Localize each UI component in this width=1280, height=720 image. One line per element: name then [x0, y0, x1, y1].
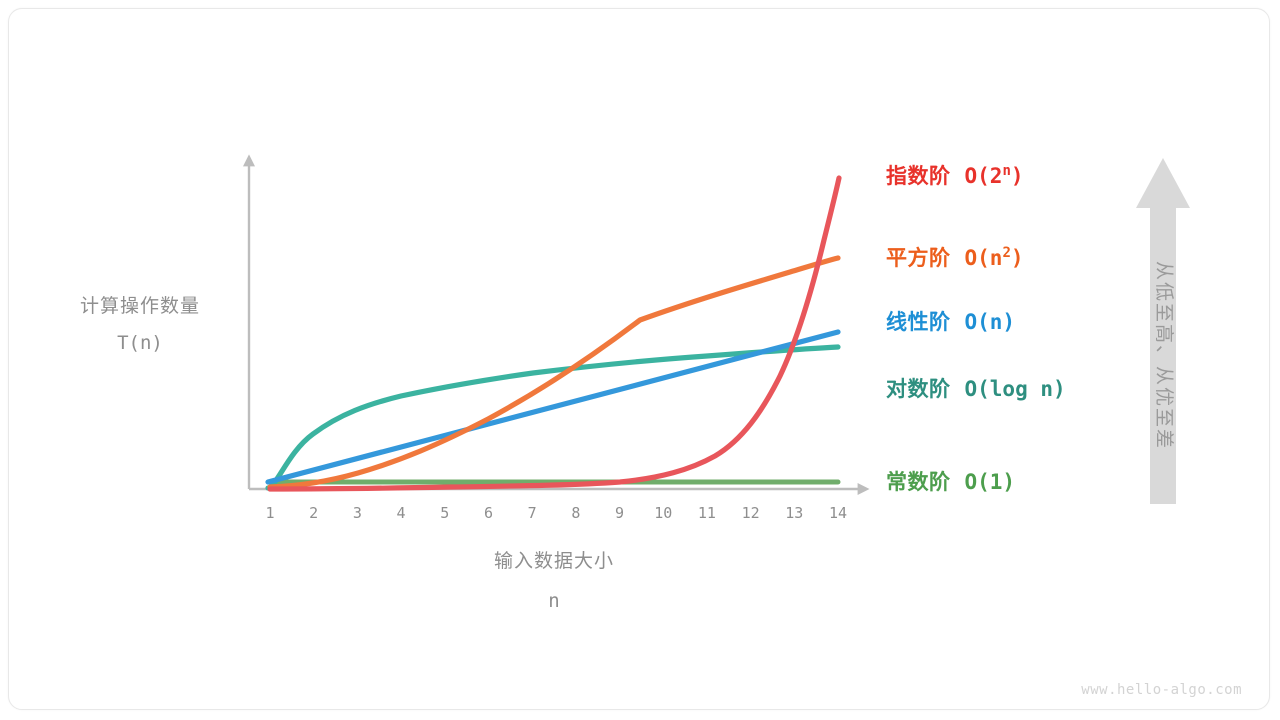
watermark: www.hello-algo.com	[1081, 682, 1242, 698]
legend-item-exponent: n	[1002, 163, 1010, 179]
legend-item-notation: O(log n)	[965, 377, 1066, 401]
x-tick-label: 13	[776, 504, 812, 522]
x-axis-title-line1: 输入数据大小	[454, 548, 654, 576]
x-tick-label: 1	[252, 504, 288, 522]
ranking-arrow-icon	[1136, 158, 1190, 504]
x-tick-label: 7	[514, 504, 550, 522]
x-tick-label: 10	[645, 504, 681, 522]
y-axis-title: 计算操作数量 T(n)	[40, 293, 240, 357]
x-tick-label: 14	[820, 504, 856, 522]
legend-item: 平方阶O(n2)	[886, 242, 1024, 272]
x-tick-label: 12	[733, 504, 769, 522]
x-tick-label: 11	[689, 504, 725, 522]
x-axis-title-line2: n	[454, 588, 654, 616]
legend-item-notation: O(2n)	[965, 164, 1024, 188]
y-axis-title-line1: 计算操作数量	[40, 293, 240, 321]
legend-item: 指数阶O(2n)	[886, 160, 1024, 190]
chart-page: 计算操作数量 T(n) 输入数据大小 n 1234567891011121314…	[0, 0, 1280, 720]
x-axis-title: 输入数据大小 n	[454, 548, 654, 615]
x-tick-label: 3	[339, 504, 375, 522]
legend-item-name: 指数阶	[886, 164, 951, 188]
legend-item-name: 常数阶	[886, 470, 951, 494]
legend-item-name: 线性阶	[886, 310, 951, 334]
legend-item-notation: O(n2)	[965, 246, 1024, 270]
x-tick-label: 9	[602, 504, 638, 522]
legend-item-exponent: 2	[1002, 245, 1010, 261]
series-linear	[268, 332, 838, 482]
x-tick-label: 2	[296, 504, 332, 522]
x-tick-label: 6	[470, 504, 506, 522]
legend-item-notation: O(n)	[965, 310, 1016, 334]
x-tick-label: 8	[558, 504, 594, 522]
x-tick-label: 4	[383, 504, 419, 522]
legend-item-name: 平方阶	[886, 246, 951, 270]
legend-item: 线性阶O(n)	[886, 306, 1015, 336]
legend-item: 常数阶O(1)	[886, 466, 1015, 496]
y-axis-title-line2: T(n)	[40, 330, 240, 358]
series-exponential	[270, 178, 839, 489]
legend-item-notation: O(1)	[965, 470, 1016, 494]
x-tick-label: 5	[427, 504, 463, 522]
legend-item-name: 对数阶	[886, 377, 951, 401]
legend-item: 对数阶O(log n)	[886, 373, 1066, 403]
